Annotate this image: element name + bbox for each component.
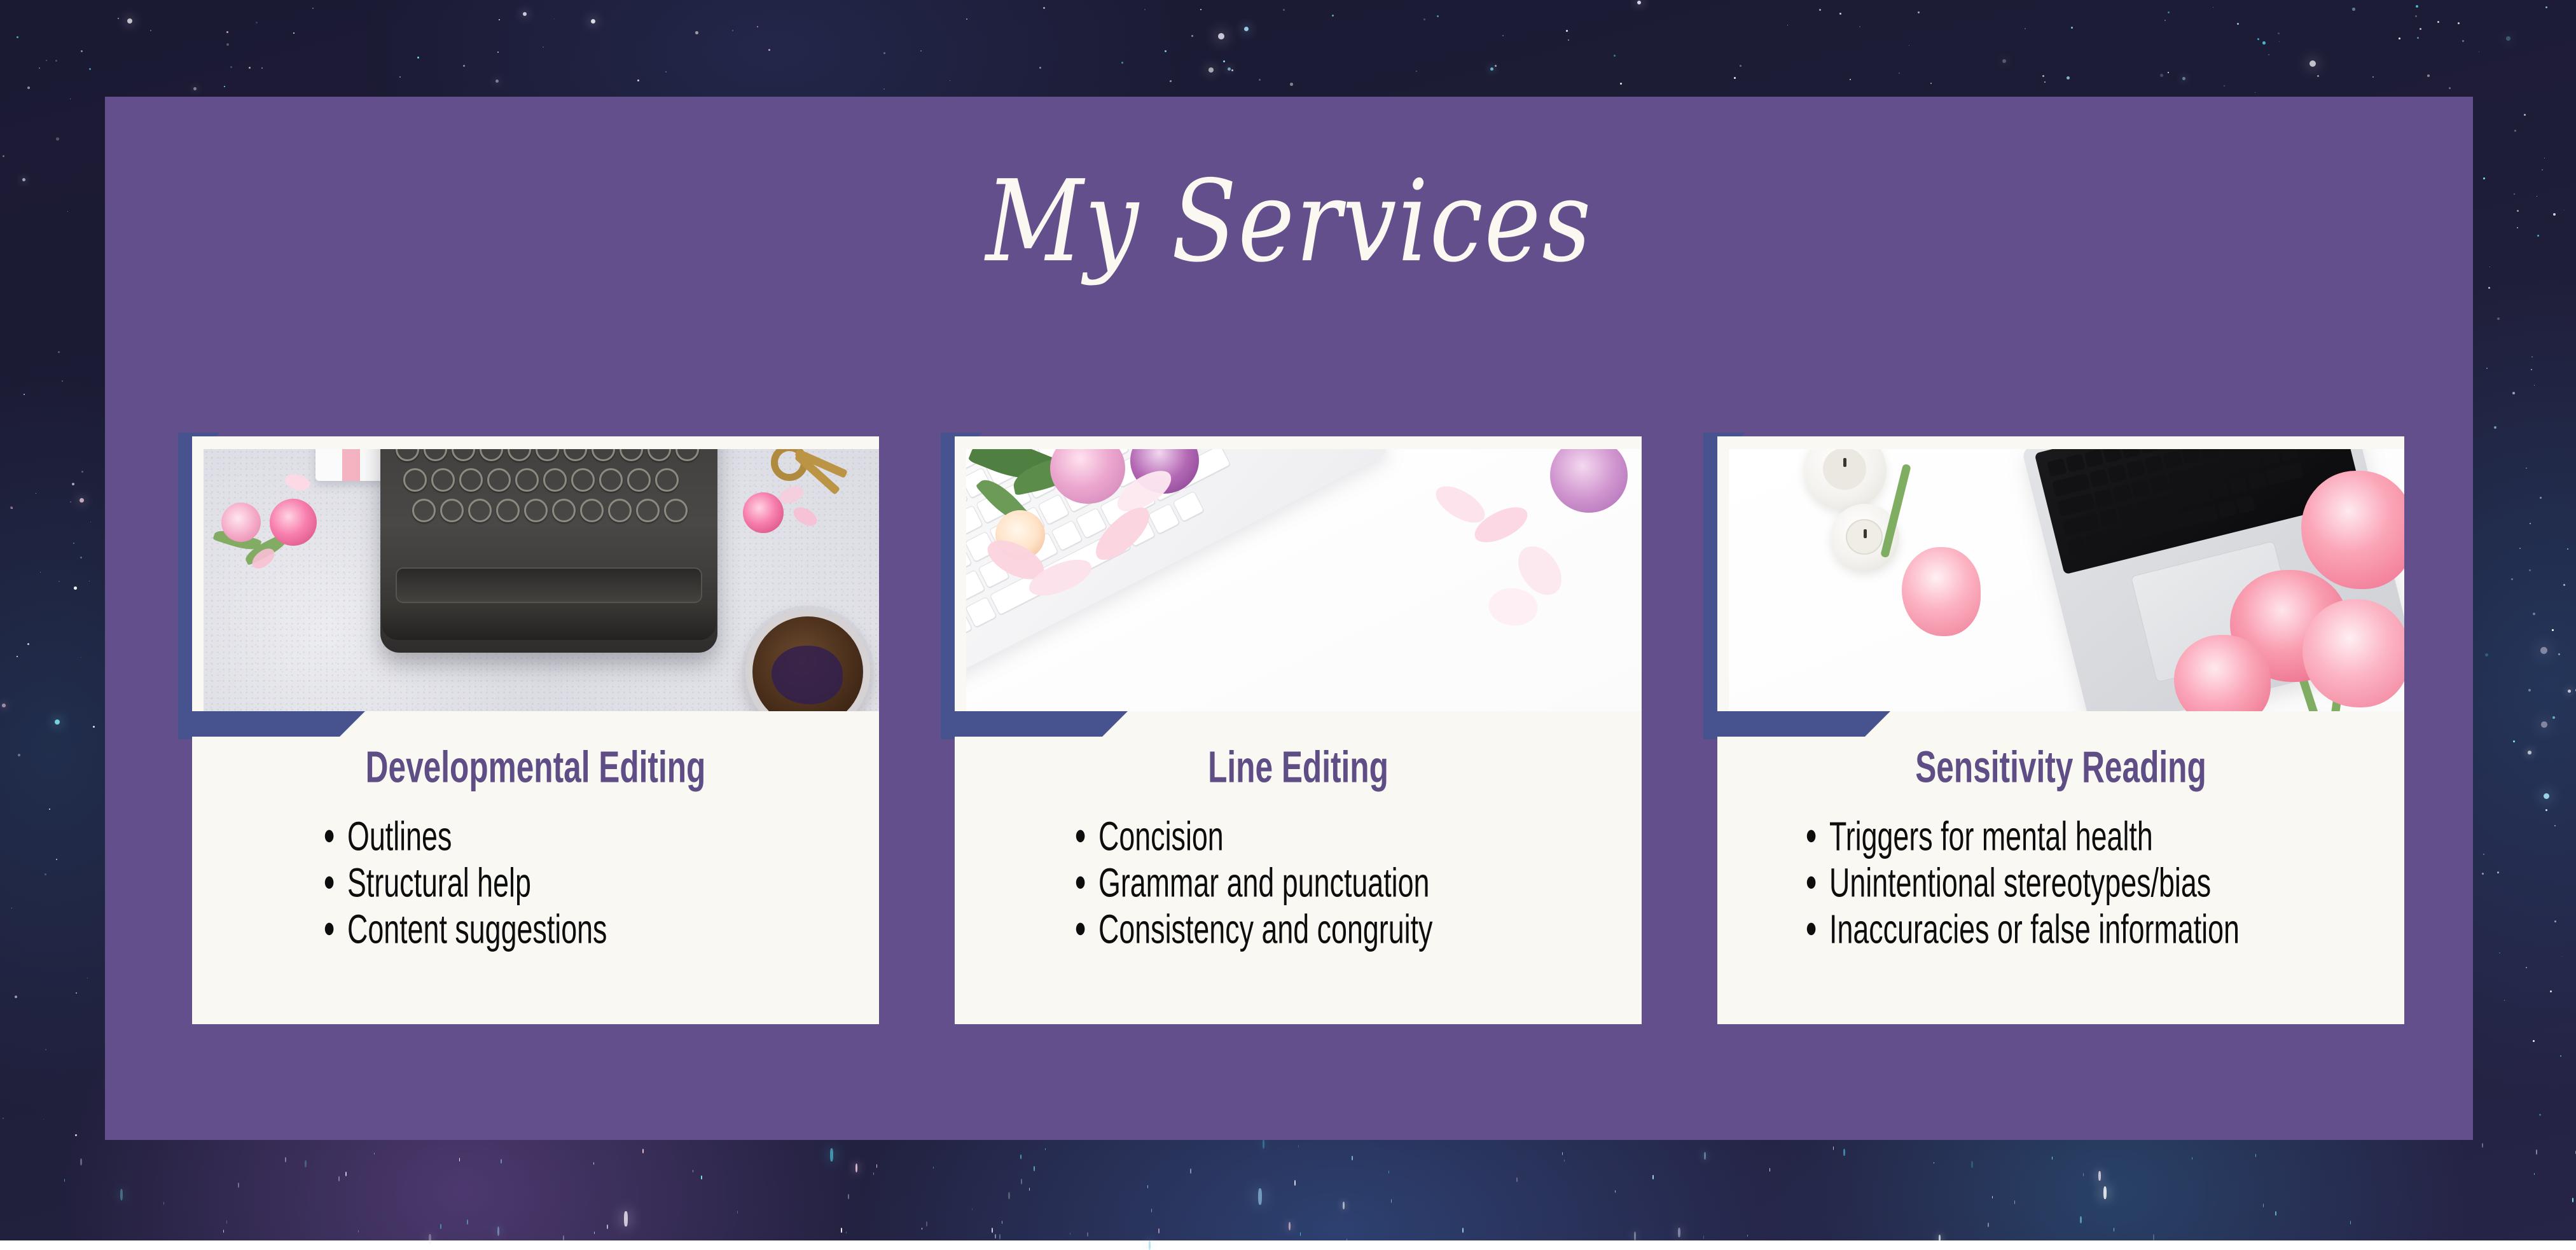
typewriter-photo bbox=[204, 449, 879, 711]
typewriter-icon bbox=[380, 449, 717, 653]
list-item: Outlines bbox=[347, 810, 759, 863]
card-surface: Developmental Editing Outlines Structura… bbox=[192, 436, 879, 1024]
brass-keys-icon bbox=[771, 449, 846, 490]
card-bullet-list: Triggers for mental health Unintentional… bbox=[1734, 814, 2388, 952]
accent-strip bbox=[1703, 436, 1717, 739]
services-card-row: Developmental Editing Outlines Structura… bbox=[178, 433, 2404, 1037]
bullet-icon bbox=[325, 922, 334, 934]
list-item: Triggers for mental health bbox=[1829, 810, 2276, 863]
bullet-icon bbox=[325, 830, 334, 842]
service-card-sensitivity-reading[interactable]: Sensitivity Reading Triggers for mental … bbox=[1703, 433, 2404, 1024]
bullet-icon bbox=[1807, 830, 1816, 842]
bullet-icon bbox=[1076, 877, 1085, 889]
card-body: Sensitivity Reading Triggers for mental … bbox=[1717, 747, 2404, 952]
slide-panel: My Services bbox=[105, 97, 2473, 1140]
bullet-icon bbox=[1807, 922, 1816, 934]
rose-icon bbox=[270, 499, 317, 546]
card-body: Developmental Editing Outlines Structura… bbox=[192, 747, 879, 952]
accent-flag-bar bbox=[955, 711, 1128, 737]
card-body: Line Editing Concision Grammar and punct… bbox=[955, 747, 1642, 952]
keyboard-flowers-photo bbox=[966, 449, 1642, 711]
laptop-tulips-photo bbox=[1729, 449, 2404, 711]
tulip-icon bbox=[1902, 547, 1981, 636]
list-item: Structural help bbox=[347, 857, 759, 910]
accent-strip bbox=[178, 436, 192, 739]
card-title: Sensitivity Reading bbox=[1799, 744, 2322, 791]
bullet-icon bbox=[1076, 830, 1085, 842]
page-title: My Services bbox=[105, 156, 2473, 287]
card-image bbox=[966, 449, 1642, 711]
card-title: Line Editing bbox=[1037, 744, 1560, 791]
bullet-icon bbox=[1076, 922, 1085, 934]
card-surface: Sensitivity Reading Triggers for mental … bbox=[1717, 436, 2404, 1024]
card-surface: Line Editing Concision Grammar and punct… bbox=[955, 436, 1642, 1024]
rose-icon bbox=[743, 492, 784, 533]
card-title: Developmental Editing bbox=[274, 744, 797, 791]
bullet-icon bbox=[325, 877, 334, 889]
card-bullet-list: Outlines Structural help Content suggest… bbox=[209, 814, 862, 952]
card-image bbox=[1729, 449, 2404, 711]
list-item: Content suggestions bbox=[347, 903, 759, 956]
list-item: Unintentional stereotypes/bias bbox=[1829, 857, 2276, 910]
list-item: Consistency and congruity bbox=[1098, 903, 1520, 956]
list-item: Concision bbox=[1098, 810, 1520, 863]
accent-flag-bar bbox=[1717, 711, 1890, 737]
accent-strip bbox=[941, 436, 955, 739]
accent-flag-bar bbox=[192, 711, 365, 737]
card-bullet-list: Concision Grammar and punctuation Consis… bbox=[971, 814, 1625, 952]
service-card-developmental-editing[interactable]: Developmental Editing Outlines Structura… bbox=[178, 433, 879, 1024]
bullet-icon bbox=[1807, 877, 1816, 889]
service-card-line-editing[interactable]: Line Editing Concision Grammar and punct… bbox=[941, 433, 1642, 1024]
list-item: Inaccuracies or false information bbox=[1829, 903, 2276, 956]
list-item: Grammar and punctuation bbox=[1098, 857, 1520, 910]
gift-box bbox=[315, 449, 387, 481]
card-image bbox=[204, 449, 879, 711]
rose-icon bbox=[221, 503, 261, 542]
